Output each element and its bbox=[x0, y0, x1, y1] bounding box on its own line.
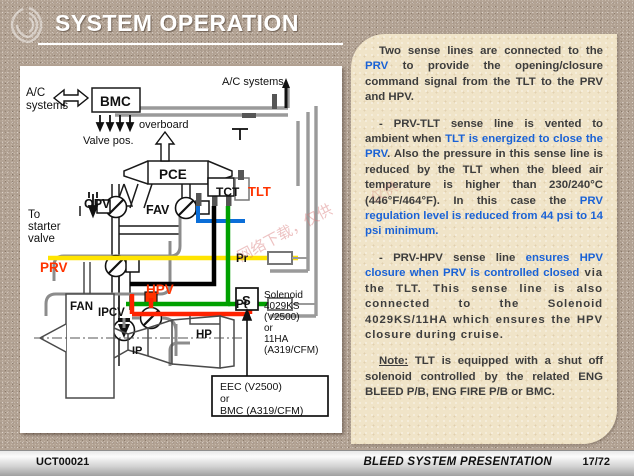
label-pce: PCE bbox=[159, 167, 187, 182]
label-to-starter: To bbox=[28, 209, 40, 221]
label-ac-systems-left: A/C bbox=[26, 87, 45, 99]
label-bmc: BMC bbox=[100, 94, 131, 109]
label-ac-systems-top: A/C systems bbox=[222, 76, 284, 88]
label-ipcv: IPCV bbox=[98, 307, 125, 319]
label-valve-pos: Valve pos. bbox=[83, 135, 134, 147]
footer-presentation-title: BLEED SYSTEM PRESENTATION bbox=[363, 456, 552, 468]
label-solenoid-5: 11HA bbox=[264, 334, 289, 345]
explanation-panel: Two sense lines are connected to the PRV… bbox=[351, 34, 617, 444]
label-eec-2: or bbox=[220, 393, 230, 405]
p2-seg3: . Also the pressure in this sense line i… bbox=[365, 148, 603, 206]
title-underline bbox=[38, 43, 343, 45]
paragraph-1: Two sense lines are connected to the PRV… bbox=[365, 44, 603, 106]
paragraph-note: Note: TLT is equipped with a shut off so… bbox=[365, 354, 603, 400]
label-solenoid-6: (A319/CFM) bbox=[264, 345, 318, 356]
label-fan: FAN bbox=[70, 301, 93, 313]
label-ip: IP bbox=[132, 345, 142, 357]
footer-page-number: 17/72 bbox=[582, 456, 610, 468]
label-solenoid-1: Solenoid bbox=[264, 290, 303, 301]
p1-seg3: to provide the opening/closure command s… bbox=[365, 60, 603, 103]
label-hp: HP bbox=[196, 329, 212, 341]
page-title: SYSTEM OPERATION bbox=[55, 10, 299, 37]
label-eec-3: BMC (A319/CFM) bbox=[220, 405, 303, 417]
label-hpv: HPV bbox=[146, 282, 174, 297]
p3-seg1: - PRV-HPV sense line bbox=[379, 252, 526, 264]
label-eec-1: EEC (V2500) bbox=[220, 381, 282, 393]
label-overboard: overboard bbox=[139, 119, 189, 131]
p1-prv-highlight: PRV bbox=[365, 60, 388, 72]
label-solenoid-2: 4029KS bbox=[264, 301, 300, 312]
paragraph-2: - PRV-TLT sense line is vented to ambien… bbox=[365, 117, 603, 240]
slide-background: SYSTEM OPERATION bbox=[0, 0, 634, 475]
label-solenoid-s: S bbox=[242, 293, 251, 308]
spiral-logo-icon bbox=[6, 4, 52, 46]
system-schematic-diagram: A/C systems BMC Valve pos. A/C systems o… bbox=[20, 66, 342, 433]
label-tlt: TLT bbox=[248, 184, 271, 199]
label-tct: TCT bbox=[216, 185, 240, 199]
label-solenoid-4: or bbox=[264, 323, 274, 334]
label-prv: PRV bbox=[40, 260, 68, 275]
label-fav: FAV bbox=[146, 203, 170, 217]
label-to-starter3: valve bbox=[28, 233, 55, 245]
slide-footer: UCT00021 BLEED SYSTEM PRESENTATION 17/72 bbox=[0, 450, 634, 476]
label-to-starter2: starter bbox=[28, 221, 61, 233]
footer-doc-id: UCT00021 bbox=[36, 456, 89, 468]
p1-seg1: Two sense lines are connected to the bbox=[379, 45, 603, 57]
label-ac-systems-left2: systems bbox=[26, 100, 68, 112]
label-solenoid-3: (V2500) bbox=[264, 312, 300, 323]
note-label: Note: bbox=[379, 355, 408, 367]
label-opv: OPV bbox=[84, 197, 111, 211]
paragraph-3: - PRV-HPV sense line ensures HPV closure… bbox=[365, 251, 603, 343]
label-pr: Pr bbox=[236, 253, 249, 265]
